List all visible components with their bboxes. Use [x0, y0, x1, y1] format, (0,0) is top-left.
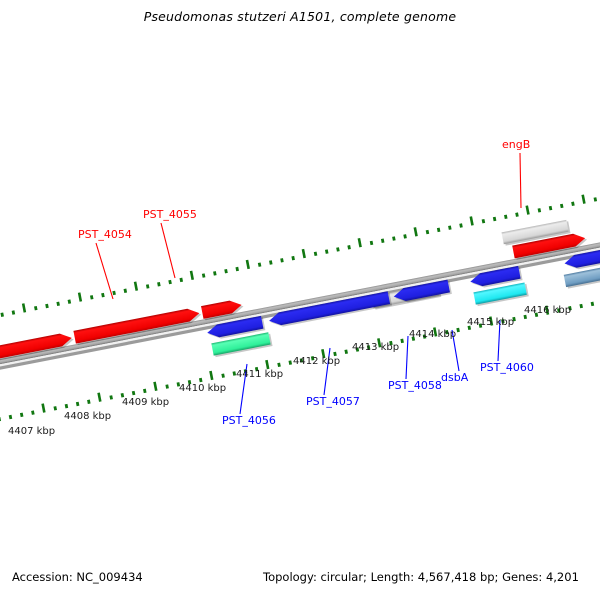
upper-tick	[56, 302, 60, 306]
upper-tick	[12, 310, 16, 314]
topology-label: Topology: circular; Length: 4,567,418 bp…	[263, 570, 579, 584]
lower-tick	[288, 360, 292, 364]
lower-tick	[31, 410, 35, 414]
upper-tick	[224, 269, 228, 273]
coordinate-label: 4408 kbp	[64, 411, 111, 422]
upper-tick	[213, 271, 217, 275]
lower-tick	[9, 415, 13, 419]
lower-tick	[344, 350, 348, 354]
gene-label-engB[interactable]: engB	[502, 138, 530, 151]
gene-label-dsbA[interactable]: dsbA	[441, 371, 469, 384]
upper-tick	[124, 289, 128, 293]
upper-tick	[594, 197, 598, 201]
upper-tick	[470, 216, 474, 225]
upper-tick	[112, 291, 116, 295]
upper-tick	[190, 271, 194, 280]
upper-tick	[180, 278, 184, 282]
upper-tick	[45, 304, 49, 308]
leader-line-PST_4058	[406, 336, 408, 379]
lower-tick	[199, 378, 203, 382]
coordinate-label: 4415 kbp	[467, 317, 514, 328]
upper-tick	[493, 217, 497, 221]
upper-tick	[403, 234, 407, 238]
upper-tick	[482, 219, 486, 223]
gene-label-PST_4056[interactable]: PST_4056	[222, 414, 276, 427]
status-bar: Accession: NC_009434 Topology: circular;…	[0, 570, 600, 600]
upper-tick	[414, 227, 418, 236]
lower-tick	[97, 393, 101, 402]
leader-line-engB	[520, 153, 521, 208]
upper-tick	[426, 230, 430, 234]
upper-tick	[538, 208, 542, 212]
lower-tick	[165, 384, 169, 388]
upper-tick	[581, 194, 585, 203]
upper-tick	[358, 238, 362, 247]
upper-tick	[90, 295, 94, 299]
upper-tick	[515, 212, 519, 216]
upper-tick	[525, 205, 529, 214]
leader-line-PST_4055	[161, 223, 175, 278]
gene-label-PST_4058[interactable]: PST_4058	[388, 379, 442, 392]
lower-tick	[277, 363, 281, 367]
lower-tick	[76, 402, 80, 406]
lower-tick	[109, 395, 113, 399]
coordinate-label: 4413 kbp	[352, 342, 399, 353]
upper-tick	[157, 282, 161, 286]
leader-line-PST_4054	[96, 243, 113, 299]
coordinate-label: 4411 kbp	[236, 369, 283, 380]
accession-label: Accession: NC_009434	[12, 570, 143, 584]
upper-tick	[325, 249, 329, 253]
upper-tick	[22, 303, 26, 312]
upper-tick	[571, 202, 575, 206]
coordinate-label: 4414 kbp	[409, 329, 456, 340]
upper-tick	[34, 306, 38, 310]
upper-tick	[168, 280, 172, 284]
upper-tick	[68, 299, 72, 303]
upper-tick	[235, 267, 239, 271]
coordinate-label: 4410 kbp	[179, 383, 226, 394]
upper-tick	[448, 225, 452, 229]
lower-tick	[579, 304, 583, 308]
upper-tick	[134, 282, 138, 291]
lower-tick	[265, 360, 269, 369]
lower-tick	[0, 417, 1, 421]
upper-tick	[549, 206, 553, 210]
upper-tick	[437, 228, 441, 232]
gene-label-PST_4054[interactable]: PST_4054	[78, 228, 132, 241]
lower-tick	[400, 339, 404, 343]
upper-tick	[280, 258, 284, 262]
upper-tick	[78, 292, 82, 301]
upper-tick	[258, 262, 262, 266]
coordinate-label: 4409 kbp	[122, 397, 169, 408]
coordinate-label: 4407 kbp	[8, 426, 55, 437]
lower-tick	[53, 406, 57, 410]
upper-tick	[314, 252, 318, 256]
lower-tick	[591, 302, 595, 306]
upper-tick	[381, 239, 385, 243]
coordinate-label: 4416 kbp	[524, 305, 571, 316]
genome-map-canvas[interactable]: PST_4054PST_4055engBPST_4056PST_4057PST_…	[0, 0, 600, 600]
lower-tick	[20, 413, 24, 417]
lower-tick	[456, 328, 460, 332]
lower-tick	[153, 382, 157, 391]
upper-tick	[336, 247, 340, 251]
genome-track	[0, 176, 600, 432]
upper-tick	[504, 215, 508, 219]
upper-tick	[246, 260, 250, 269]
gene-label-PST_4055[interactable]: PST_4055	[143, 208, 197, 221]
lower-tick	[41, 403, 45, 412]
lower-tick	[132, 391, 136, 395]
upper-tick	[302, 249, 306, 258]
lower-tick	[143, 389, 147, 393]
upper-tick	[392, 236, 396, 240]
upper-tick	[347, 245, 351, 249]
upper-tick	[560, 204, 564, 208]
upper-tick	[146, 284, 150, 288]
upper-tick	[0, 312, 4, 316]
upper-tick	[101, 293, 105, 297]
gene-label-PST_4060[interactable]: PST_4060	[480, 361, 534, 374]
label-layer: PST_4054PST_4055engBPST_4056PST_4057PST_…	[8, 138, 571, 437]
coordinate-label: 4412 kbp	[293, 356, 340, 367]
lower-tick	[209, 371, 213, 380]
upper-tick	[291, 256, 295, 260]
lower-tick	[65, 404, 69, 408]
upper-tick	[269, 260, 273, 264]
upper-tick	[202, 273, 206, 277]
lower-tick	[221, 373, 225, 377]
upper-tick	[459, 223, 463, 227]
upper-tick	[370, 241, 374, 245]
tick-marks-lower	[0, 277, 600, 432]
gene-label-PST_4057[interactable]: PST_4057	[306, 395, 360, 408]
lower-tick	[87, 400, 91, 404]
